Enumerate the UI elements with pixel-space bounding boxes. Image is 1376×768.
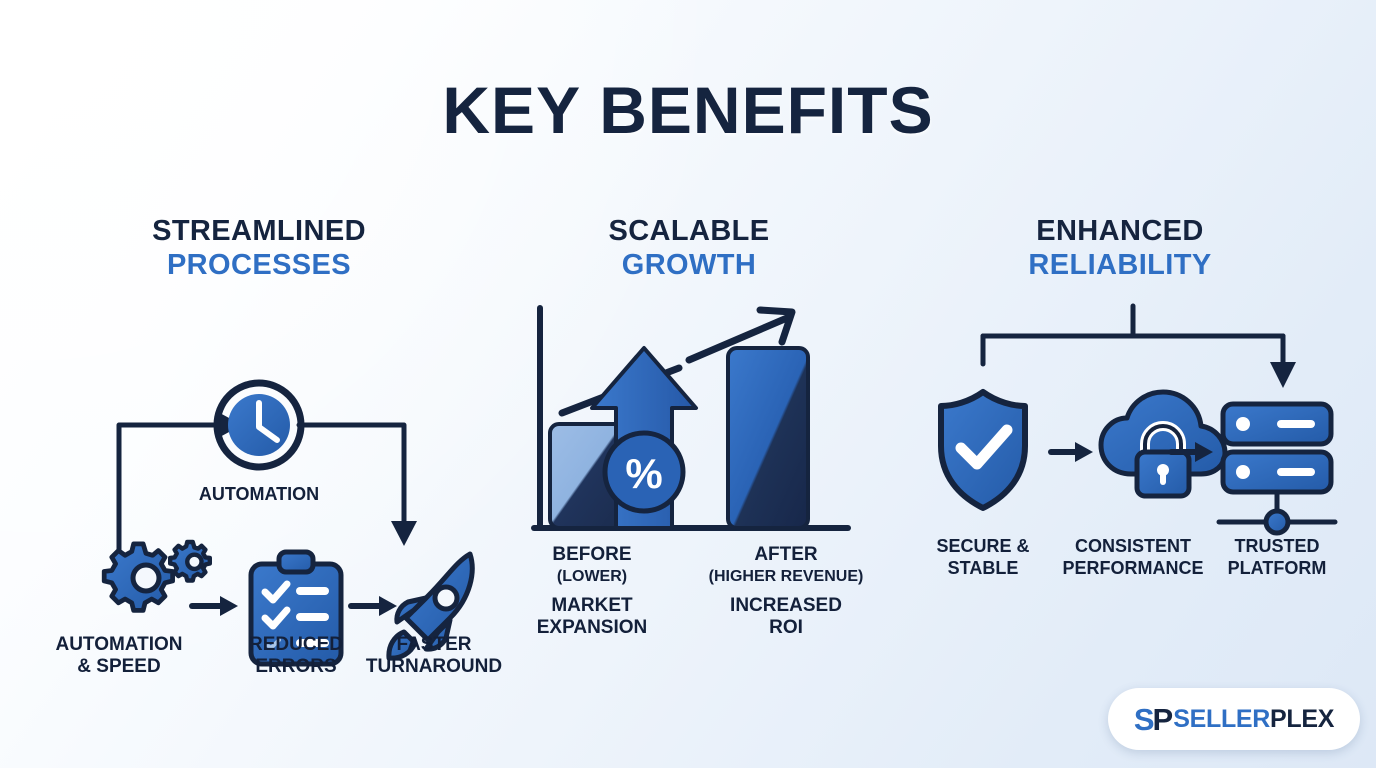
cloud-lock-icon: [1101, 392, 1225, 496]
label-reduced-errors-l2: ERRORS: [255, 656, 336, 677]
label-reduced-errors-l1: REDUCED: [249, 634, 343, 655]
label-faster-turnaround-l1: FASTER: [397, 634, 472, 655]
label-after-l1: AFTER: [754, 544, 818, 565]
label-before-l1: BEFORE: [552, 544, 631, 565]
arrow-head-to-server: [1270, 362, 1296, 388]
automation-label: AUTOMATION: [199, 484, 319, 504]
logo-wordmark: SELLERPLEX: [1173, 707, 1334, 732]
column-1-diagram: AUTOMATION: [44, 300, 474, 730]
flow-connector-right: [299, 425, 404, 522]
column-1-labels: AUTOMATION & SPEED REDUCED ERRORS FASTER…: [55, 634, 502, 677]
label-trusted-platform-l2: PLATFORM: [1228, 558, 1327, 578]
logo-monogram-s: S: [1134, 702, 1153, 737]
label-automation-speed-l1: AUTOMATION: [55, 634, 182, 655]
label-consistent-performance-l1: CONSISTENT: [1075, 536, 1191, 556]
arrow-clipboard-to-rocket: [351, 596, 397, 616]
gears-icon: [104, 542, 210, 610]
column-1-heading: STREAMLINED PROCESSES: [44, 214, 474, 282]
column-2-heading-line1: SCALABLE: [474, 214, 904, 248]
sellerplex-logo: SP SELLERPLEX: [1108, 688, 1360, 750]
label-trusted-platform-l1: TRUSTED: [1235, 536, 1320, 556]
shield-check-icon: [941, 392, 1025, 508]
clock-icon: [217, 383, 301, 467]
logo-monogram: SP: [1134, 704, 1171, 735]
page-title: KEY BENEFITS: [0, 72, 1376, 148]
column-3-diagram: SECURE & STABLE CONSISTENT PERFORMANCE T…: [905, 300, 1335, 730]
logo-word-seller: SELLER: [1173, 705, 1270, 733]
column-1-heading-line2: PROCESSES: [44, 248, 474, 282]
label-secure-stable-l1: SECURE &: [936, 536, 1029, 556]
server-rack-icon: [1219, 404, 1335, 533]
arrow-gears-to-clipboard: [192, 596, 238, 616]
column-3-heading-line1: ENHANCED: [905, 214, 1335, 248]
label-market-expansion-l2: EXPANSION: [537, 617, 648, 638]
label-after-l2: (HIGHER REVENUE): [709, 568, 864, 585]
column-2-heading: SCALABLE GROWTH: [474, 214, 904, 282]
label-market-expansion-l1: MARKET: [551, 595, 633, 616]
column-3-heading: ENHANCED RELIABILITY: [905, 214, 1335, 282]
chart-labels: BEFORE (LOWER) MARKET EXPANSION AFTER (H…: [537, 544, 864, 638]
label-consistent-performance-l2: PERFORMANCE: [1062, 558, 1203, 578]
column-2-heading-line2: GROWTH: [474, 248, 904, 282]
column-3-labels: SECURE & STABLE CONSISTENT PERFORMANCE T…: [936, 536, 1326, 578]
arrow-head-to-rocket: [391, 521, 417, 546]
reliability-bracket: [983, 306, 1283, 364]
column-streamlined-processes: STREAMLINED PROCESSES: [44, 214, 474, 730]
percent-badge-icon: %: [605, 433, 683, 511]
logo-word-plex: PLEX: [1270, 705, 1334, 733]
arrow-shield-to-cloud: [1051, 442, 1093, 462]
percent-symbol: %: [625, 450, 662, 497]
column-enhanced-reliability: ENHANCED RELIABILITY: [905, 214, 1335, 730]
infographic-canvas: KEY BENEFITS STREAMLINED PROCESSES: [0, 0, 1376, 768]
label-secure-stable-l2: STABLE: [948, 558, 1019, 578]
column-scalable-growth: SCALABLE GROWTH: [474, 214, 904, 730]
label-increased-roi-l2: ROI: [769, 617, 803, 638]
label-increased-roi-l1: INCREASED: [730, 595, 842, 616]
growth-bar-chart: % BEFORE (LOWER) MARKET EXPANSION AFTER …: [474, 300, 904, 730]
label-before-l2: (LOWER): [557, 568, 627, 585]
bar-after: [728, 348, 808, 528]
label-automation-speed-l2: & SPEED: [77, 656, 160, 677]
column-3-heading-line2: RELIABILITY: [905, 248, 1335, 282]
column-1-heading-line1: STREAMLINED: [44, 214, 474, 248]
logo-monogram-p: P: [1153, 702, 1172, 737]
